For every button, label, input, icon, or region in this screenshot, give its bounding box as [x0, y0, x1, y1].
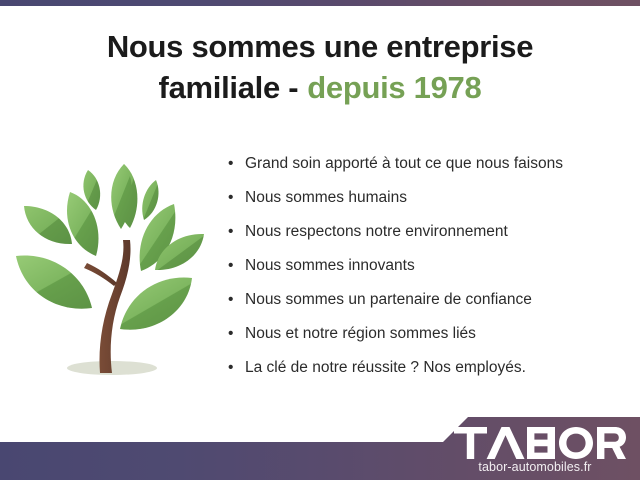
tree-illustration [8, 152, 208, 380]
tree-shadow [67, 361, 157, 375]
brand-lockup: tabor-automobiles.fr [446, 427, 626, 474]
list-item: • Nous sommes humains [228, 181, 628, 215]
list-item: • Nous sommes un partenaire de confiance [228, 283, 628, 317]
list-item: • Grand soin apporté à tout ce que nous … [228, 147, 628, 181]
headline-line-2-black: familiale - [159, 70, 299, 105]
list-item-label: Nous et notre région sommes liés [245, 317, 476, 351]
list-item-label: Nous sommes humains [245, 181, 407, 215]
list-item-label: Nous respectons notre environnement [245, 215, 508, 249]
list-item-label: Nous sommes innovants [245, 249, 415, 283]
tree-trunk [100, 240, 131, 373]
benefits-list: • Grand soin apporté à tout ce que nous … [228, 147, 628, 385]
bullet-marker-icon: • [228, 249, 242, 283]
list-item: • Nous et notre région sommes liés [228, 317, 628, 351]
page-title: Nous sommes une entreprise familiale -de… [0, 26, 640, 108]
leaf [142, 180, 158, 220]
brand-website-url: tabor-automobiles.fr [446, 460, 626, 474]
headline-line-1: Nous sommes une entreprise [0, 26, 640, 67]
top-accent-strip [0, 0, 640, 6]
bullet-marker-icon: • [228, 351, 242, 385]
slide-canvas: Nous sommes une entreprise familiale -de… [0, 0, 640, 480]
brand-bar: tabor-automobiles.fr [0, 405, 640, 480]
bullet-marker-icon: • [228, 283, 242, 317]
list-item-label: Grand soin apporté à tout ce que nous fa… [245, 147, 563, 181]
bullet-marker-icon: • [228, 317, 242, 351]
tabor-logo [454, 427, 626, 459]
list-item: • Nous respectons notre environnement [228, 215, 628, 249]
list-item-label: Nous sommes un partenaire de confiance [245, 283, 532, 317]
list-item-label: La clé de notre réussite ? Nos employés. [245, 351, 526, 385]
tree-branch-left [84, 263, 117, 286]
list-item: • Nous sommes innovants [228, 249, 628, 283]
bullet-marker-icon: • [228, 215, 242, 249]
headline-line-2: familiale -depuis 1978 [0, 67, 640, 108]
list-item: • La clé de notre réussite ? Nos employé… [228, 351, 628, 385]
leaf [24, 206, 72, 244]
bullet-marker-icon: • [228, 147, 242, 181]
headline-line-2-accent: depuis 1978 [307, 70, 481, 105]
leaf [120, 278, 192, 330]
leaf [16, 256, 92, 309]
bullet-marker-icon: • [228, 181, 242, 215]
